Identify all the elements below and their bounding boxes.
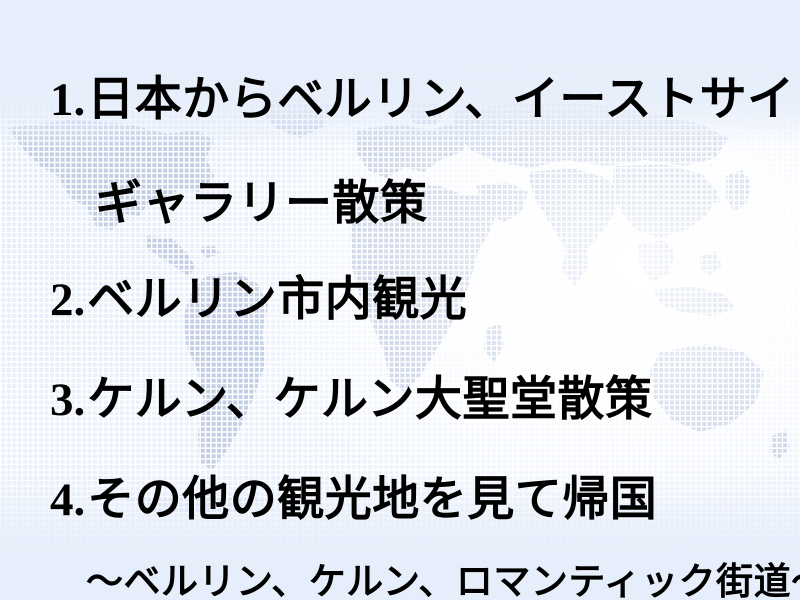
list-item-3-number: 3. (50, 374, 87, 426)
list-item-4-text: その他の観光地を見て帰国 (87, 472, 657, 527)
list-item-1-text: 日本からベルリン、イーストサイド (87, 72, 800, 127)
slide-content: 1.日本からベルリン、イーストサイド ギャラリー散策 2.ベルリン市内観光 3.… (0, 0, 800, 600)
list-item-1: 1.日本からベルリン、イーストサイド (50, 76, 800, 124)
list-item-2-number: 2. (50, 274, 87, 326)
presentation-slide: 1.日本からベルリン、イーストサイド ギャラリー散策 2.ベルリン市内観光 3.… (0, 0, 800, 600)
list-item-4-number: 4. (50, 474, 87, 526)
list-item-2: 2.ベルリン市内観光 (50, 276, 467, 324)
list-item-1-continuation: ギャラリー散策 (95, 180, 428, 227)
list-item-3-text: ケルン、ケルン大聖堂散策 (87, 372, 652, 427)
list-item-2-text: ベルリン市内観光 (87, 272, 467, 327)
slide-subtitle: 〜ベルリン、ケルン、ロマンティック街道〜 (86, 563, 800, 600)
list-item-4: 4.その他の観光地を見て帰国 (50, 476, 657, 524)
list-item-3: 3.ケルン、ケルン大聖堂散策 (50, 376, 653, 424)
list-item-1-number: 1. (50, 74, 87, 126)
